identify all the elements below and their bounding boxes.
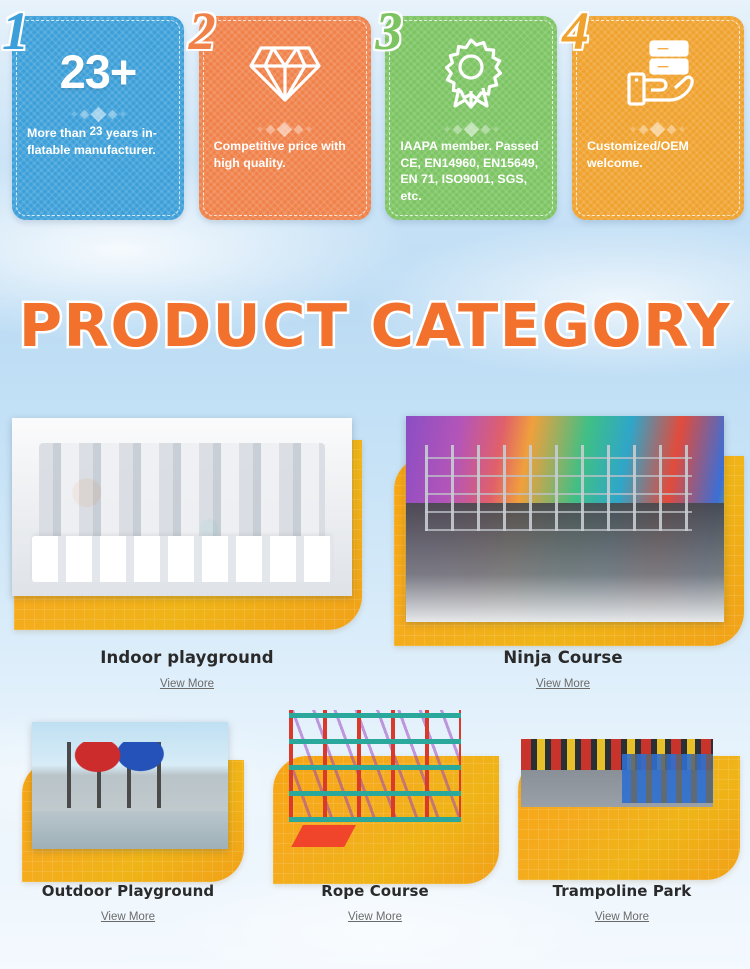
view-more-link[interactable]: View More xyxy=(595,911,649,923)
feature-card-1[interactable]: 1 23+ More than 23 years in-flatable man… xyxy=(6,8,184,220)
diamond-divider-icon xyxy=(24,107,172,121)
product-card-outdoor-playground[interactable]: Outdoor Playground View More xyxy=(8,700,248,950)
feature-card-4-body: Customized/OEM welcome. xyxy=(572,16,744,220)
feature-text-3: IAAPA member. Passed CE, EN14960, EN1564… xyxy=(397,138,545,204)
feature-text-1-sup: 23 xyxy=(90,126,103,138)
view-more-link[interactable]: View More xyxy=(101,911,155,923)
feature-card-3[interactable]: 3 IAAPA member. Passed CE, EN14960, EN15… xyxy=(379,8,557,220)
feature-card-3-body: IAAPA member. Passed CE, EN14960, EN1564… xyxy=(385,16,557,220)
product-caption: Ninja Course View More xyxy=(384,648,742,692)
feature-text-2: Competitive price with high quality. xyxy=(211,138,359,171)
feature-card-4[interactable]: 4 Customized/OEM welcome. xyxy=(566,8,744,220)
product-caption: Indoor playground View More xyxy=(8,648,366,692)
feature-number-1: 1 xyxy=(2,4,29,58)
feature-text-1: More than 23 years in-flatable manufactu… xyxy=(24,125,172,158)
ninja-course-photo xyxy=(406,416,724,622)
product-caption: Trampoline Park View More xyxy=(502,882,742,925)
product-card-ninja-course[interactable]: Ninja Course View More xyxy=(384,408,742,688)
features-strip: 1 23+ More than 23 years in-flatable man… xyxy=(0,8,750,230)
feature-card-2[interactable]: 2 Competitive price with high quality. xyxy=(193,8,371,220)
feature-highlight-1: 23+ xyxy=(24,48,172,95)
product-name: Ninja Course xyxy=(384,648,742,667)
feature-text-1-before: More than xyxy=(27,126,86,140)
hand-holding-document-icon xyxy=(584,36,732,110)
diamond-divider-icon xyxy=(211,122,359,136)
product-card-rope-course[interactable]: Rope Course View More xyxy=(255,700,495,950)
product-card-indoor-playground[interactable]: Indoor playground View More xyxy=(8,408,366,688)
product-name: Indoor playground xyxy=(8,648,366,667)
feature-text-4: Customized/OEM welcome. xyxy=(584,138,732,171)
product-name: Outdoor Playground xyxy=(8,882,248,900)
product-name: Trampoline Park xyxy=(502,882,742,900)
product-card-trampoline-park[interactable]: Trampoline Park View More xyxy=(502,700,742,950)
product-caption: Outdoor Playground View More xyxy=(8,882,248,925)
view-more-link[interactable]: View More xyxy=(348,911,402,923)
feature-card-2-body: Competitive price with high quality. xyxy=(199,16,371,220)
feature-number-4: 4 xyxy=(562,4,589,58)
feature-number-3: 3 xyxy=(375,4,402,58)
feature-card-1-body: 23+ More than 23 years in-flatable manuf… xyxy=(12,16,184,220)
award-rosette-icon xyxy=(397,36,545,110)
view-more-link[interactable]: View More xyxy=(536,678,590,690)
trampoline-park-photo xyxy=(510,730,726,840)
product-row-top: Indoor playground View More Ninja Course… xyxy=(0,408,750,688)
product-name: Rope Course xyxy=(255,882,495,900)
indoor-playground-photo xyxy=(12,418,352,596)
feature-number-2: 2 xyxy=(189,4,216,58)
product-row-bottom: Outdoor Playground View More Rope Course… xyxy=(0,700,750,950)
product-caption: Rope Course View More xyxy=(255,882,495,925)
diamond-icon xyxy=(211,36,359,110)
rope-course-photo xyxy=(273,700,477,860)
page-title: PRODUCT CATEGORY xyxy=(0,296,750,355)
view-more-link[interactable]: View More xyxy=(160,678,214,690)
diamond-divider-icon xyxy=(584,122,732,136)
outdoor-playground-photo xyxy=(32,722,228,849)
diamond-divider-icon xyxy=(397,122,545,136)
